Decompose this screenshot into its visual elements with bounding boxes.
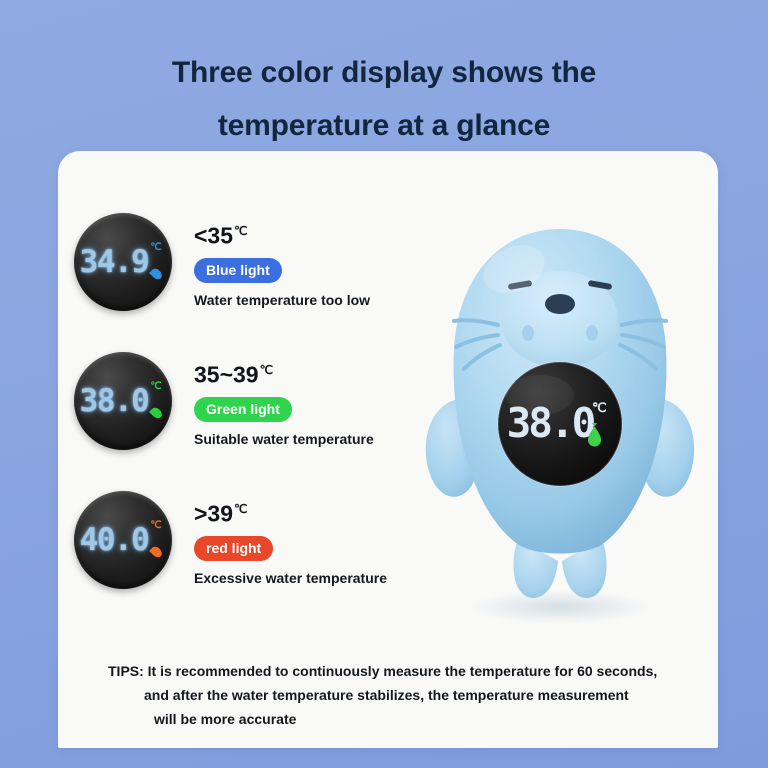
- temperature-legend-list: 34.9 ℃ <35℃ Blue light Water temperature…: [74, 213, 414, 630]
- seal-led-unit: ℃: [592, 400, 607, 415]
- description-blue: Water temperature too low: [194, 292, 414, 309]
- range-unit-red: ℃: [234, 502, 247, 516]
- led-unit-red: ℃: [150, 521, 161, 531]
- led-side-blue: ℃: [150, 242, 166, 282]
- range-unit-blue: ℃: [234, 224, 247, 238]
- description-green: Suitable water temperature: [194, 431, 414, 448]
- description-red: Excessive water temperature: [194, 570, 414, 587]
- badge-red-light[interactable]: red light: [194, 536, 273, 561]
- range-value-red: >39: [194, 501, 233, 527]
- tips-text: TIPS: It is recommended to continuously …: [108, 659, 688, 731]
- led-side-red: ℃: [150, 520, 166, 560]
- led-display-green: 38.0 ℃: [74, 352, 172, 450]
- page-title: Three color display shows the temperatur…: [0, 46, 768, 152]
- page-title-line-1: Three color display shows the: [0, 46, 768, 99]
- led-side-green: ℃: [150, 381, 166, 421]
- led-inner-green: 38.0 ℃: [80, 381, 167, 421]
- tips-line-1: TIPS: It is recommended to continuously …: [108, 659, 688, 683]
- led-unit-blue: ℃: [150, 243, 161, 253]
- range-value-green: 35~39: [194, 362, 259, 388]
- seal-ground-shadow: [468, 590, 652, 624]
- legend-row-green: 38.0 ℃ 35~39℃ Green light Suitable water…: [74, 352, 414, 491]
- tips-line-3: will be more accurate: [108, 707, 688, 731]
- seal-illustration: 38.0 ℃: [410, 209, 710, 629]
- range-label-red: >39℃: [194, 496, 414, 528]
- led-value-green: 38.0: [80, 386, 149, 417]
- water-drop-icon-red: [149, 545, 164, 560]
- led-value-blue: 34.9: [80, 247, 149, 278]
- range-value-blue: <35: [194, 223, 233, 249]
- page-title-line-2: temperature at a glance: [0, 99, 768, 152]
- tips-line-2: and after the water temperature stabiliz…: [108, 683, 688, 707]
- seal-right-cheek: [586, 325, 598, 341]
- seal-nose-icon: [545, 294, 575, 314]
- seal-left-cheek: [522, 325, 534, 341]
- badge-blue-light[interactable]: Blue light: [194, 258, 282, 283]
- led-inner-red: 40.0 ℃: [80, 520, 167, 560]
- legend-text-red: >39℃ red light Excessive water temperatu…: [194, 496, 414, 587]
- water-drop-icon-green: [149, 406, 164, 421]
- seal-led-value: 38.0: [507, 399, 595, 447]
- range-unit-green: ℃: [260, 363, 273, 377]
- range-label-blue: <35℃: [194, 218, 414, 250]
- content-card: 34.9 ℃ <35℃ Blue light Water temperature…: [58, 151, 718, 748]
- led-inner-blue: 34.9 ℃: [80, 242, 167, 282]
- product-image-seal-thermometer: 38.0 ℃: [410, 209, 710, 629]
- led-display-red: 40.0 ℃: [74, 491, 172, 589]
- led-unit-green: ℃: [150, 382, 161, 392]
- range-label-green: 35~39℃: [194, 357, 414, 389]
- legend-text-green: 35~39℃ Green light Suitable water temper…: [194, 357, 414, 448]
- led-display-blue: 34.9 ℃: [74, 213, 172, 311]
- led-value-red: 40.0: [80, 525, 149, 556]
- water-drop-icon-blue: [149, 267, 164, 282]
- legend-text-blue: <35℃ Blue light Water temperature too lo…: [194, 218, 414, 309]
- legend-row-blue: 34.9 ℃ <35℃ Blue light Water temperature…: [74, 213, 414, 352]
- badge-green-light[interactable]: Green light: [194, 397, 292, 422]
- legend-row-red: 40.0 ℃ >39℃ red light Excessive water te…: [74, 491, 414, 630]
